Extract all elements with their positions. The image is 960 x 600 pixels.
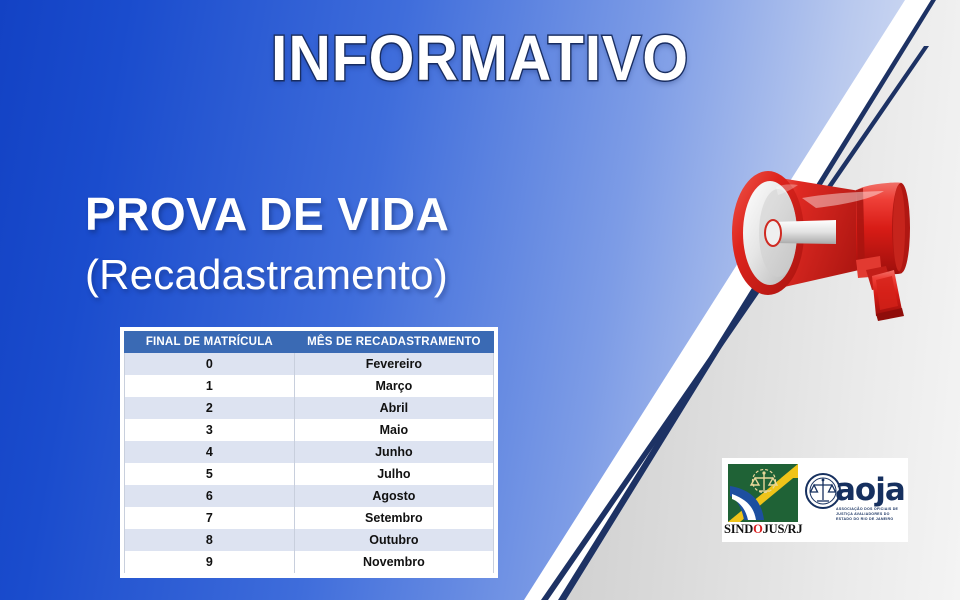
cell-mes: Novembro (294, 551, 493, 573)
cell-final: 9 (125, 551, 295, 573)
aoja-subtitle: ASSOCIAÇÃO DOS OFICIAIS DE JUSTIÇA AVALI… (836, 507, 906, 523)
cell-final: 6 (125, 485, 295, 507)
table-row: 2Abril (125, 397, 494, 419)
megaphone-icon (716, 140, 946, 325)
column-header-mes: MÊS DE RECADASTRAMENTO (294, 332, 493, 353)
sindojus-word-part1: SIND (724, 522, 753, 536)
subtitle-secondary: (Recadastramento) (85, 252, 448, 298)
sindojus-wordmark: SINDOJUS/RJ (724, 522, 802, 537)
table-row: 6Agosto (125, 485, 494, 507)
table-header-row: FINAL DE MATRÍCULA MÊS DE RECADASTRAMENT… (125, 332, 494, 353)
sindojus-word-highlight: O (753, 522, 763, 536)
aoja-wordmark: aoja (835, 475, 905, 506)
cell-mes: Maio (294, 419, 493, 441)
cell-mes: Setembro (294, 507, 493, 529)
cell-mes: Abril (294, 397, 493, 419)
table-row: 7Setembro (125, 507, 494, 529)
table-row: 5Julho (125, 463, 494, 485)
aoja-logo: aoja ASSOCIAÇÃO DOS OFICIAIS DE JUSTIÇA … (805, 469, 905, 531)
informativo-banner: INFORMATIVO PROVA DE VIDA (Recadastramen… (0, 0, 960, 600)
cell-mes: Julho (294, 463, 493, 485)
table-row: 1Março (125, 375, 494, 397)
cell-mes: Junho (294, 441, 493, 463)
cell-final: 0 (125, 353, 295, 376)
cell-final: 8 (125, 529, 295, 551)
cell-mes: Agosto (294, 485, 493, 507)
subtitle-primary: PROVA DE VIDA (85, 190, 449, 238)
table-row: 8Outubro (125, 529, 494, 551)
sindojus-word-part2: JUS/RJ (763, 522, 803, 536)
cell-final: 2 (125, 397, 295, 419)
cell-final: 1 (125, 375, 295, 397)
cell-final: 4 (125, 441, 295, 463)
recadastramento-schedule-table: FINAL DE MATRÍCULA MÊS DE RECADASTRAMENT… (120, 327, 498, 578)
page-title: INFORMATIVO (38, 26, 921, 90)
cell-final: 7 (125, 507, 295, 529)
cell-mes: Março (294, 375, 493, 397)
column-header-final-matricula: FINAL DE MATRÍCULA (125, 332, 295, 353)
table-row: 0Fevereiro (125, 353, 494, 376)
cell-final: 5 (125, 463, 295, 485)
table-row: 9Novembro (125, 551, 494, 573)
cell-final: 3 (125, 419, 295, 441)
logo-bar: SINDOJUS/RJ aoja ASSOCIAÇÃO DOS OFICIAIS… (722, 458, 908, 542)
cell-mes: Outubro (294, 529, 493, 551)
sindojus-rj-logo: SINDOJUS/RJ (724, 462, 802, 538)
table-row: 3Maio (125, 419, 494, 441)
sindojus-emblem-icon (728, 464, 798, 522)
table-row: 4Junho (125, 441, 494, 463)
cell-mes: Fevereiro (294, 353, 493, 376)
